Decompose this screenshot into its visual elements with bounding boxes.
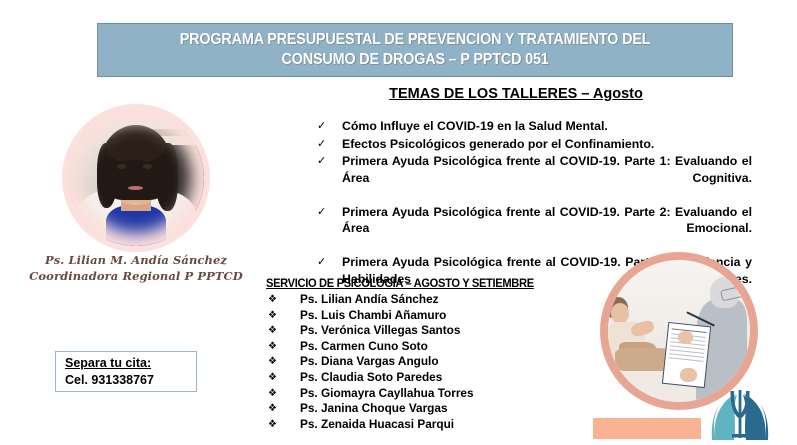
staff-name: Ps. Claudia Soto Paredes	[300, 370, 442, 386]
workshop-topic-text: Primera Ayuda Psicológica frente al COVI…	[342, 204, 752, 254]
diamond-bullet-icon: ❖	[266, 308, 300, 324]
portrait-vignette	[68, 110, 204, 246]
diamond-bullet-icon: ❖	[266, 386, 300, 402]
staff-name: Ps. Verónica Villegas Santos	[300, 323, 460, 339]
coordinator-role: Coordinadora Regional P PPTCD	[18, 268, 254, 284]
staff-name: Ps. Carmen Cuno Soto	[300, 339, 428, 355]
psychology-psi-heads-logo	[706, 388, 774, 440]
therapy-image	[608, 260, 750, 402]
list-item: ❖ Ps. Diana Vargas Angulo	[266, 354, 596, 370]
portrait-image	[68, 110, 204, 246]
banner-line-2: CONSUMO DE DROGAS – P PPTCD 051	[180, 50, 651, 70]
list-item: ✓ Cómo Influye el COVID-19 en la Salud M…	[312, 118, 752, 135]
coordinator-portrait	[62, 104, 210, 252]
list-item: ❖ Ps. Luis Chambi Añamuro	[266, 308, 596, 324]
coordinator-name: Ps. Lilian M. Andía Sánchez	[18, 252, 254, 268]
staff-name: Ps. Lilian Andía Sánchez	[300, 292, 439, 308]
staff-name: Ps. Luis Chambi Añamuro	[300, 308, 446, 324]
staff-name: Ps. Giomayra Cayllahua Torres	[300, 386, 474, 402]
workshop-topic-text: Cómo Influye el COVID-19 en la Salud Men…	[342, 118, 752, 135]
workshop-topic-text: Primera Ayuda Psicológica frente al COVI…	[342, 153, 752, 203]
appointment-phone: Cel. 931338767	[65, 372, 196, 388]
check-icon: ✓	[312, 204, 342, 221]
clipboard-line	[668, 357, 703, 362]
list-item: ✓ Primera Ayuda Psicológica frente al CO…	[312, 204, 752, 254]
banner-line-1: PROGRAMA PRESUPUESTAL DE PREVENCION Y TR…	[180, 30, 651, 50]
diamond-bullet-icon: ❖	[266, 292, 300, 308]
workshop-topic-text: Efectos Psicológicos generado por el Con…	[342, 136, 752, 153]
banner-text-block: PROGRAMA PRESUPUESTAL DE PREVENCION Y TR…	[180, 30, 651, 71]
therapy-session-photo	[600, 252, 758, 410]
staff-name: Ps. Diana Vargas Angulo	[300, 354, 439, 370]
therapist-hand-upper	[678, 331, 694, 344]
check-icon: ✓	[312, 254, 342, 271]
coordinator-caption: Ps. Lilian M. Andía Sánchez Coordinadora…	[18, 252, 254, 285]
list-item: ❖ Ps. Giomayra Cayllahua Torres	[266, 386, 596, 402]
check-icon: ✓	[312, 118, 342, 135]
psi-base	[732, 434, 748, 438]
list-item: ❖ Ps. Verónica Villegas Santos	[266, 323, 596, 339]
program-title-banner: PROGRAMA PRESUPUESTAL DE PREVENCION Y TR…	[97, 23, 733, 77]
staff-list: ❖ Ps. Lilian Andía Sánchez ❖ Ps. Luis Ch…	[266, 292, 596, 432]
diamond-bullet-icon: ❖	[266, 417, 300, 433]
psi-heads-svg	[706, 388, 774, 440]
list-item: ❖ Ps. Janina Choque Vargas	[266, 401, 596, 417]
therapist-hand-lower	[680, 368, 697, 382]
appointment-box[interactable]: Separa tu cita: Cel. 931338767	[55, 351, 197, 392]
list-item: ❖ Ps. Lilian Andía Sánchez	[266, 292, 596, 308]
diamond-bullet-icon: ❖	[266, 323, 300, 339]
list-item: ✓ Primera Ayuda Psicológica frente al CO…	[312, 153, 752, 203]
staff-name: Ps. Zenaida Huacasi Parqui	[300, 417, 454, 433]
diamond-bullet-icon: ❖	[266, 354, 300, 370]
diamond-bullet-icon: ❖	[266, 370, 300, 386]
list-item: ❖ Ps. Carmen Cuno Soto	[266, 339, 596, 355]
workshops-title: TEMAS DE LOS TALLERES – Agosto	[296, 86, 736, 102]
diamond-bullet-icon: ❖	[266, 401, 300, 417]
diamond-bullet-icon: ❖	[266, 339, 300, 355]
salmon-accent-bar	[593, 418, 701, 439]
appointment-title: Separa tu cita:	[65, 356, 196, 372]
check-icon: ✓	[312, 153, 342, 170]
staff-name: Ps. Janina Choque Vargas	[300, 401, 448, 417]
list-item: ❖ Ps. Claudia Soto Paredes	[266, 370, 596, 386]
list-item: ✓ Efectos Psicológicos generado por el C…	[312, 136, 752, 153]
list-item: ❖ Ps. Zenaida Huacasi Parqui	[266, 417, 596, 433]
service-section-title: SERVICIO DE PSICOLOGÍA – AGOSTO Y SETIEM…	[266, 277, 534, 290]
check-icon: ✓	[312, 136, 342, 153]
client-head	[611, 303, 629, 324]
